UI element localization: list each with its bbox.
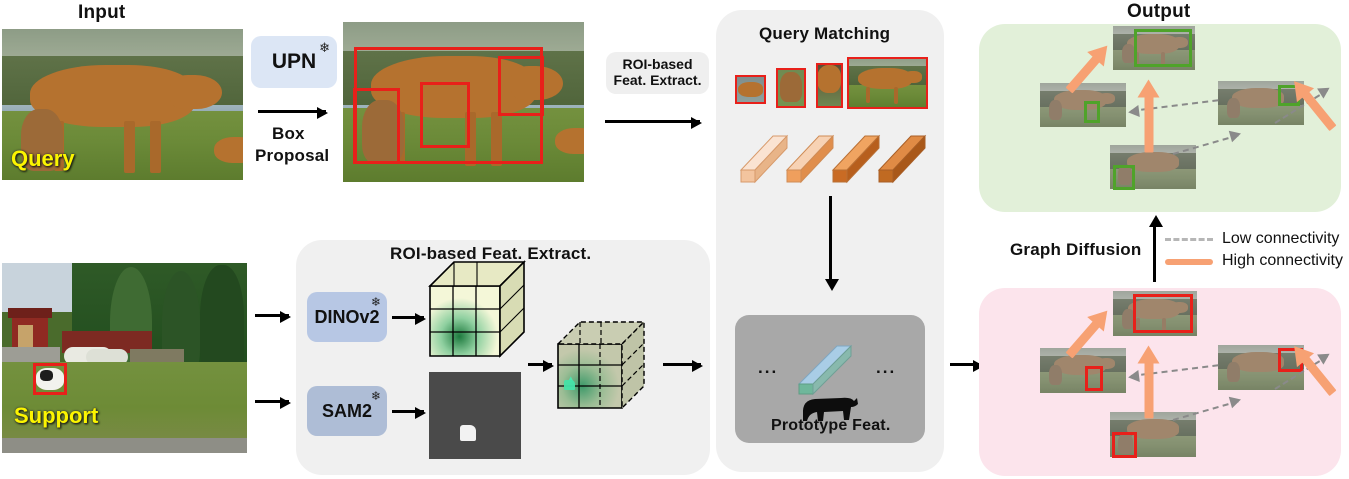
- query-feature-slabs: [727, 114, 942, 194]
- dinov2-label: DINOv2: [314, 307, 379, 327]
- cow-leg: [150, 121, 161, 173]
- cow-leg: [124, 121, 135, 173]
- mask-overlay-glyph: [564, 380, 575, 390]
- node-calf: [1049, 100, 1062, 120]
- roi-feat-extract-tag-top[interactable]: ROI-based Feat. Extract.: [606, 52, 709, 94]
- sam2-to-mask-arrow: [392, 410, 424, 413]
- support-to-dinov2-arrow: [255, 314, 289, 317]
- sam2-mask-output: [429, 372, 521, 459]
- proposal-bbox-body[interactable]: [420, 82, 470, 148]
- query-caption: Query: [11, 146, 75, 172]
- graph-bbox-left[interactable]: [1085, 366, 1103, 391]
- crop-bbox[interactable]: [816, 63, 843, 108]
- upn-label: UPN: [272, 50, 316, 74]
- barn-roof: [8, 308, 52, 318]
- dinov2-to-cube-arrow: [392, 316, 424, 319]
- matched-crop-1[interactable]: [735, 75, 766, 104]
- snowflake-icon: ❄: [319, 41, 330, 54]
- prototype-to-graph-arrow: [950, 363, 982, 366]
- sam2-label: SAM2: [322, 401, 372, 421]
- upn-module[interactable]: UPN ❄: [251, 36, 337, 88]
- background-cow: [214, 137, 243, 163]
- node-cow-head: [1098, 93, 1115, 104]
- mask-cow-silhouette: [460, 425, 476, 441]
- upn-to-proposal-arrow: [258, 110, 326, 113]
- box-proposal-label-line2: Proposal: [255, 146, 329, 166]
- graph-bbox-bottom[interactable]: [1112, 432, 1137, 458]
- graph-bbox-top[interactable]: [1133, 294, 1193, 333]
- prototype-feat-label: Prototype Feat.: [771, 417, 890, 435]
- matched-crop-4[interactable]: [847, 57, 928, 109]
- node-calf: [1227, 98, 1240, 118]
- prototype-dots-right: ...: [876, 358, 896, 378]
- output-bbox-top[interactable]: [1134, 29, 1192, 67]
- node-calf: [1227, 362, 1240, 382]
- box-proposal-label-line1: Box: [272, 124, 305, 144]
- proposal-bbox-calf[interactable]: [353, 88, 400, 164]
- support-bbox[interactable]: [33, 363, 67, 395]
- proposal-to-matching-arrow: [605, 120, 700, 123]
- legend-high-connectivity-line: [1165, 259, 1213, 265]
- feat-to-matching-arrow: [663, 363, 701, 366]
- dinov2-module[interactable]: DINOv2 ❄: [307, 292, 387, 342]
- snowflake-icon: ❄: [371, 296, 381, 308]
- roadside-region: [2, 438, 247, 453]
- crop-bbox[interactable]: [735, 75, 766, 104]
- matched-crop-3[interactable]: [816, 63, 843, 108]
- crop-bbox[interactable]: [847, 57, 928, 109]
- matching-to-prototype-arrow: [829, 196, 832, 280]
- tree: [200, 265, 244, 377]
- box-proposal-image[interactable]: [343, 22, 584, 182]
- sam2-module[interactable]: SAM2 ❄: [307, 386, 387, 436]
- query-image[interactable]: Query: [2, 29, 243, 180]
- matched-crop-2[interactable]: [776, 68, 806, 108]
- output-bbox-left[interactable]: [1084, 101, 1100, 123]
- output-node-left[interactable]: [1040, 83, 1126, 127]
- prototype-dots-left: ...: [758, 358, 778, 378]
- figure-canvas: Input Output Query UPN ❄ Box Proposal: [0, 0, 1349, 479]
- cube-fuse-arrow: [528, 363, 552, 366]
- node-calf: [1049, 365, 1062, 385]
- cow-head: [170, 75, 222, 109]
- output-bbox-bottom[interactable]: [1113, 165, 1135, 190]
- output-title: Output: [1127, 1, 1190, 23]
- fused-feature-cube: ▴: [556, 318, 668, 418]
- support-to-sam2-arrow: [255, 400, 289, 403]
- crop-bbox[interactable]: [776, 68, 806, 108]
- legend-low-connectivity-line: [1165, 238, 1213, 241]
- graph-edge-high-bottom-to-top: [1145, 361, 1154, 419]
- output-edge-high-bottom-to-top: [1145, 95, 1154, 153]
- roi-tag-line2: Feat. Extract.: [614, 73, 702, 89]
- support-caption: Support: [14, 403, 98, 429]
- proposal-bbox-head[interactable]: [498, 56, 544, 116]
- support-image[interactable]: Support: [2, 263, 247, 453]
- road-region: [2, 347, 60, 363]
- graph-node-left[interactable]: [1040, 348, 1126, 393]
- snowflake-icon: ❄: [371, 390, 381, 402]
- dinov2-feature-cube: [428, 258, 548, 368]
- roi-tag-line1: ROI-based: [622, 57, 692, 73]
- background-cow: [555, 128, 584, 154]
- legend-divider: [1153, 228, 1156, 282]
- legend-high-connectivity-label: High connectivity: [1222, 252, 1343, 270]
- input-title: Input: [78, 2, 125, 24]
- query-matching-title: Query Matching: [759, 24, 890, 44]
- graph-diffusion-title: Graph Diffusion: [1010, 240, 1141, 260]
- legend-low-connectivity-label: Low connectivity: [1222, 230, 1339, 248]
